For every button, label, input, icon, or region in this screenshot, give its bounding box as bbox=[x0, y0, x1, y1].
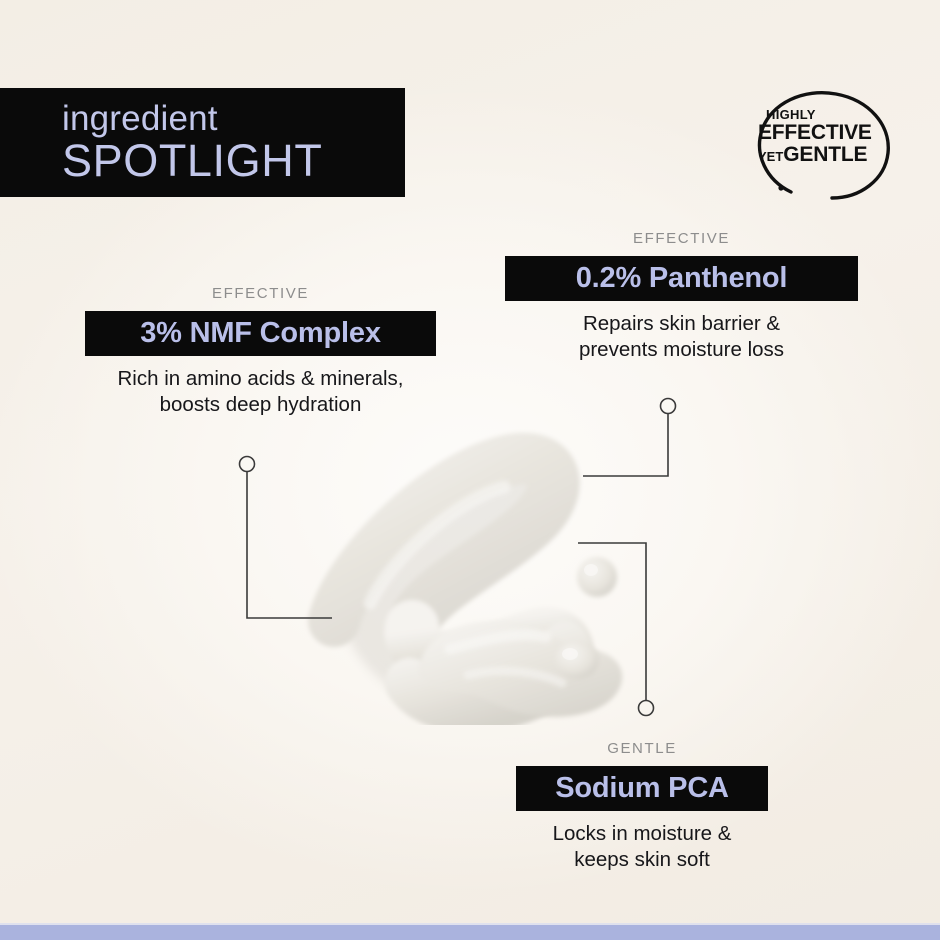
callout-desc-line2: prevents moisture loss bbox=[505, 337, 858, 363]
title-block: ingredient SPOTLIGHT bbox=[0, 88, 405, 197]
callout-label: GENTLE bbox=[516, 741, 768, 756]
callout-description: Locks in moisture & keeps skin soft bbox=[516, 821, 768, 873]
badge-line-highly: HIGHLY bbox=[758, 108, 880, 121]
bottom-accent-bar bbox=[0, 925, 940, 940]
callout-panthenol: EFFECTIVE 0.2% Panthenol Repairs skin ba… bbox=[505, 231, 858, 363]
callout-description: Repairs skin barrier & prevents moisture… bbox=[505, 311, 858, 363]
callout-desc-line2: boosts deep hydration bbox=[85, 392, 436, 418]
callout-desc-line1: Repairs skin barrier & bbox=[505, 311, 858, 337]
callout-desc-line2: keeps skin soft bbox=[516, 847, 768, 873]
highly-effective-yet-gentle-badge: HIGHLY EFFECTIVE YETGENTLE bbox=[748, 88, 898, 200]
callout-label: EFFECTIVE bbox=[505, 231, 858, 246]
badge-line-yet-gentle: YETGENTLE bbox=[758, 144, 880, 165]
infographic-canvas: ingredient SPOTLIGHT HIGHLY EFFECTIVE YE… bbox=[0, 0, 940, 940]
callout-desc-line1: Locks in moisture & bbox=[516, 821, 768, 847]
title-line-ingredient: ingredient bbox=[62, 101, 405, 136]
callout-sodium-pca: GENTLE Sodium PCA Locks in moisture & ke… bbox=[516, 741, 768, 873]
cream-swatch-image bbox=[300, 425, 660, 725]
callout-ingredient-name: 3% NMF Complex bbox=[140, 319, 381, 348]
callout-ingredient-name: 0.2% Panthenol bbox=[576, 264, 788, 293]
title-line-spotlight: SPOTLIGHT bbox=[62, 138, 405, 184]
callout-name-bar: 0.2% Panthenol bbox=[505, 256, 858, 301]
callout-ingredient-name: Sodium PCA bbox=[555, 774, 729, 803]
callout-label: EFFECTIVE bbox=[85, 286, 436, 301]
callout-nmf-complex: EFFECTIVE 3% NMF Complex Rich in amino a… bbox=[85, 286, 436, 418]
callout-name-bar: 3% NMF Complex bbox=[85, 311, 436, 356]
callout-desc-line1: Rich in amino acids & minerals, bbox=[85, 366, 436, 392]
badge-word-yet: YET bbox=[758, 149, 783, 164]
badge-line-effective: EFFECTIVE bbox=[758, 122, 880, 143]
badge-text: HIGHLY EFFECTIVE YETGENTLE bbox=[758, 108, 880, 165]
callout-name-bar: Sodium PCA bbox=[516, 766, 768, 811]
callout-description: Rich in amino acids & minerals, boosts d… bbox=[85, 366, 436, 418]
badge-word-gentle: GENTLE bbox=[783, 143, 867, 166]
